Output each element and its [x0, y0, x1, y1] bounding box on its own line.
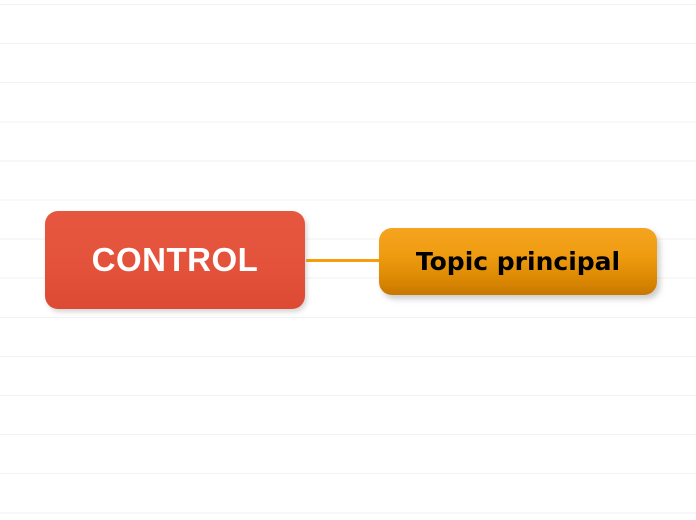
mindmap-node-control[interactable]: CONTROL: [45, 211, 305, 309]
mindmap-canvas[interactable]: CONTROL Topic principal: [0, 0, 696, 520]
node-label-topic-principal: Topic principal: [416, 247, 620, 276]
mindmap-node-topic-principal[interactable]: Topic principal: [379, 228, 657, 295]
connector-root-to-topic-1[interactable]: [306, 259, 382, 262]
node-label-control: CONTROL: [92, 241, 259, 279]
